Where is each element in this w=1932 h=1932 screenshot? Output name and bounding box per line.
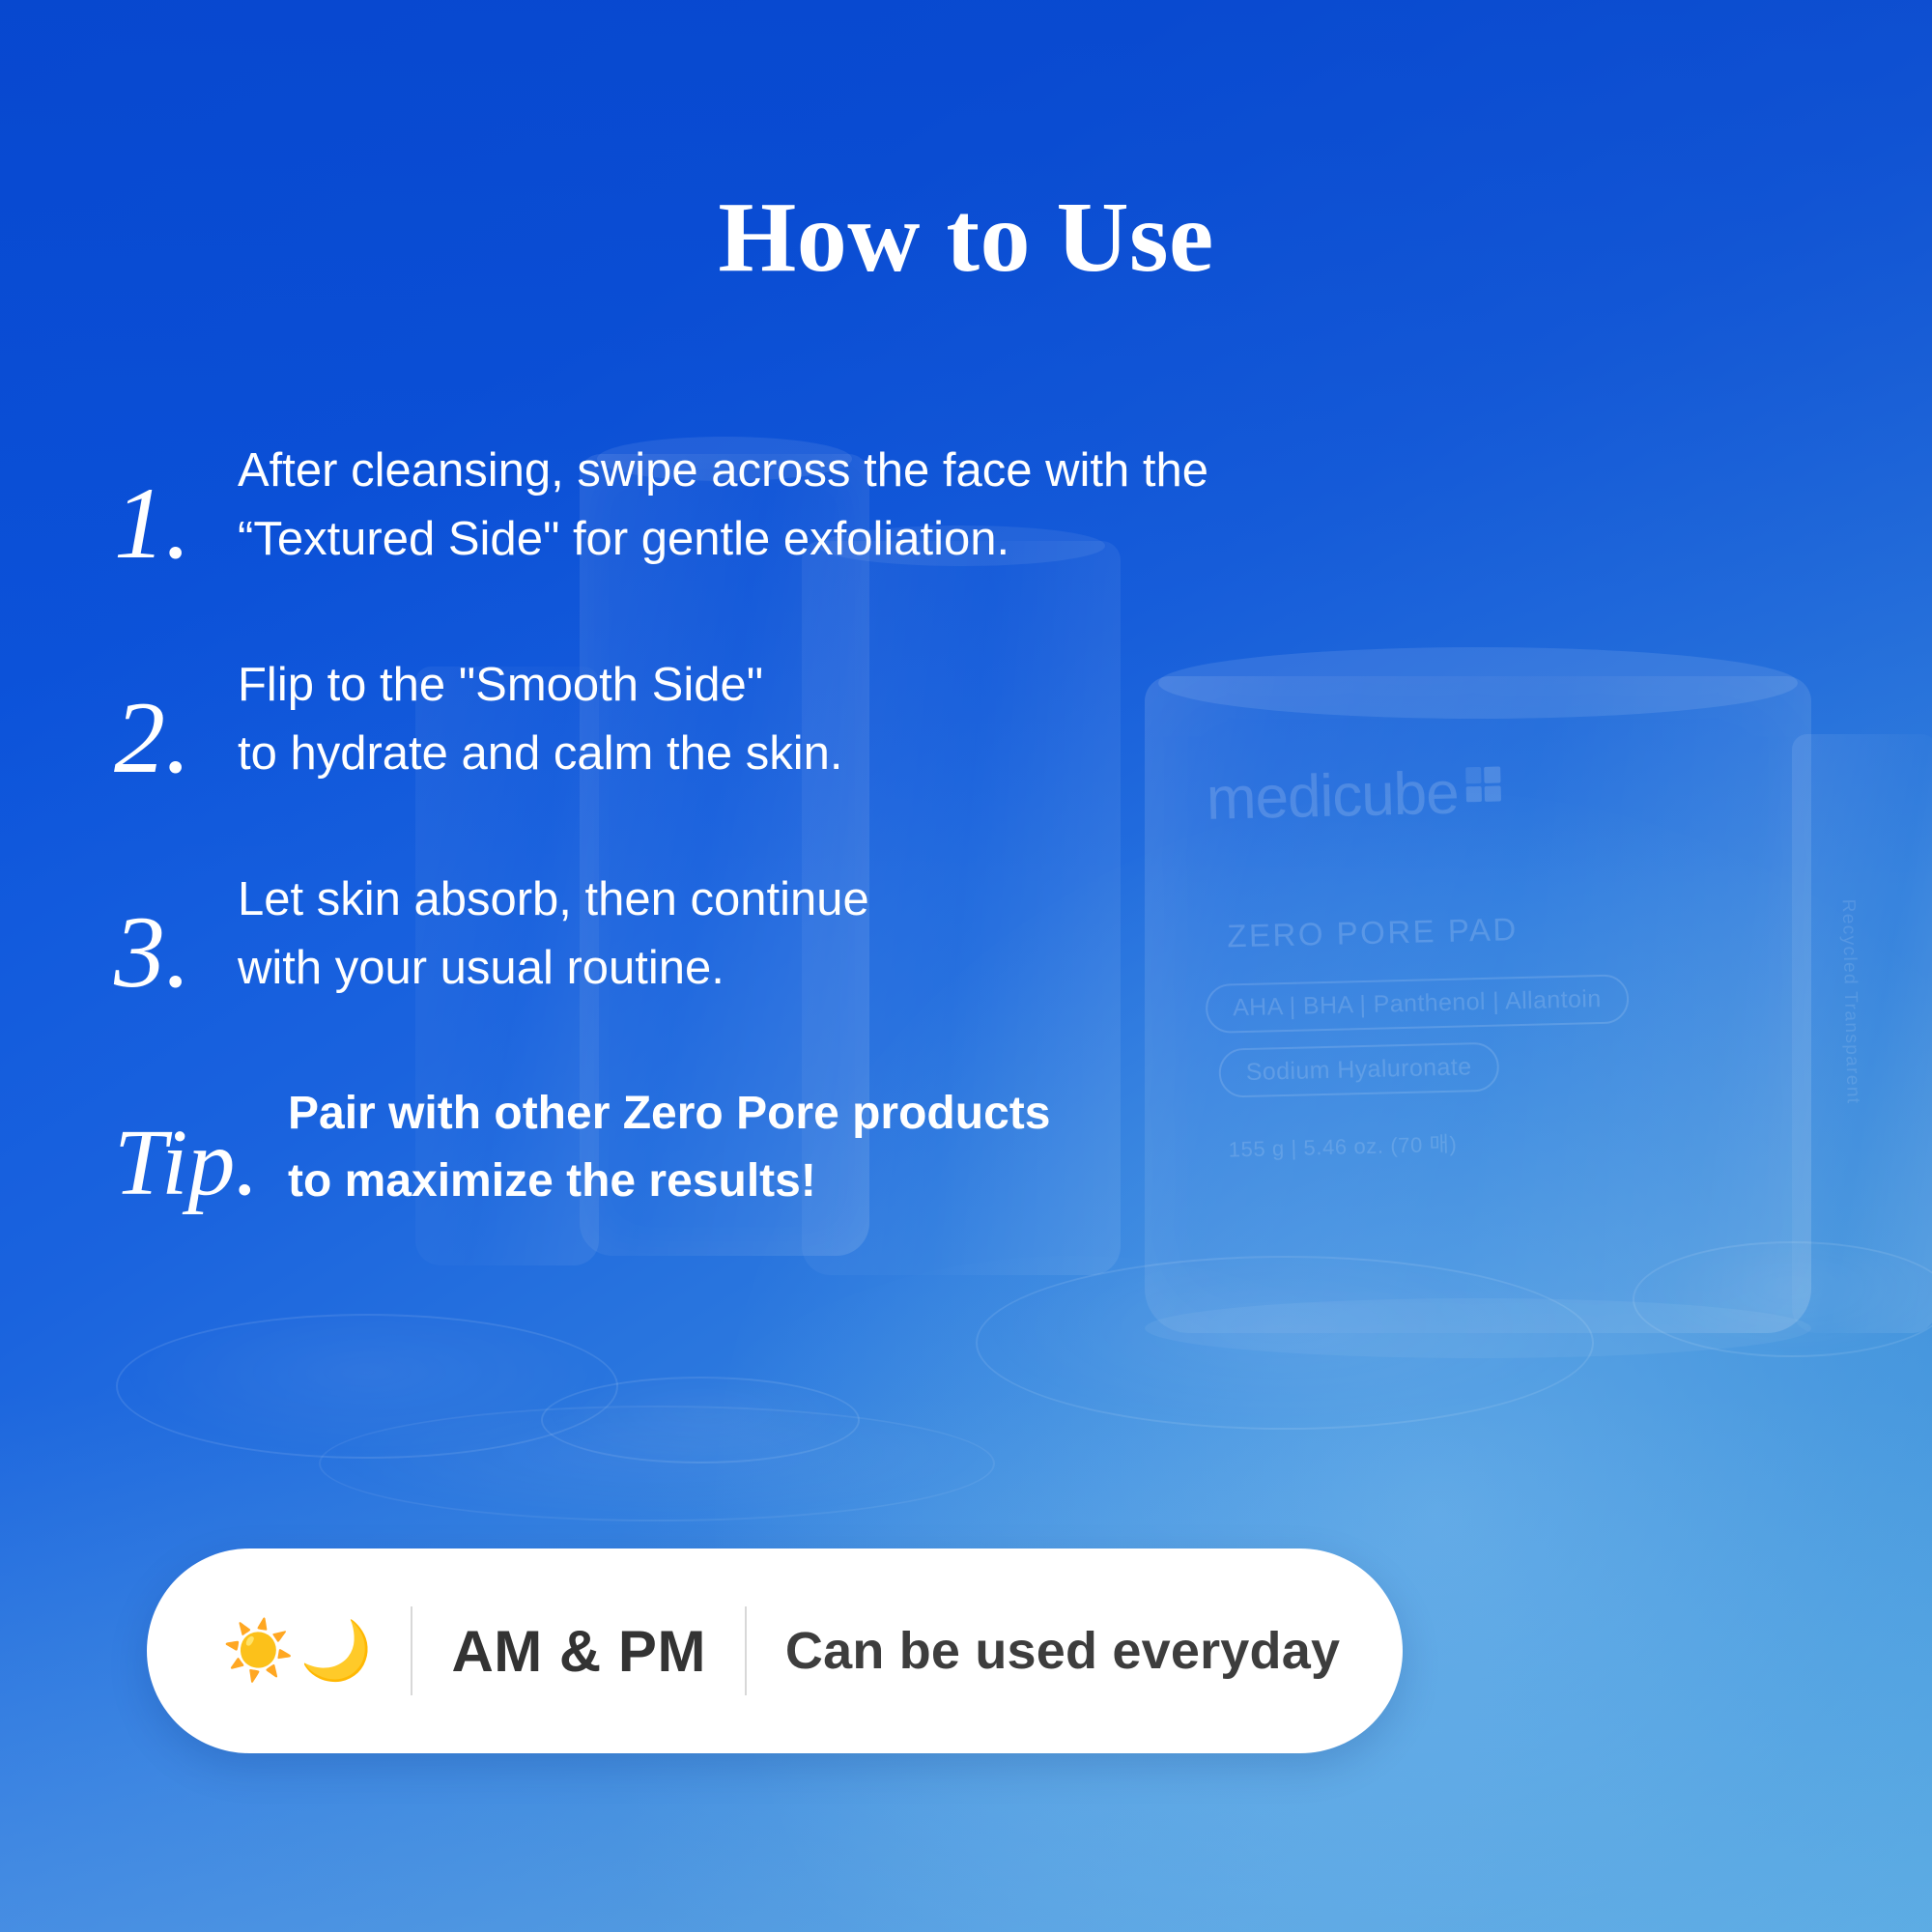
moon-icon: 🌙 xyxy=(300,1622,373,1680)
step-text: Let skin absorb, then continue with your… xyxy=(238,866,869,1005)
tip-text: Pair with other Zero Pore products to ma… xyxy=(288,1080,1050,1216)
step-text-line: “Textured Side" for gentle exfoliation. xyxy=(238,505,1208,574)
step-text-line: Flip to the "Smooth Side" xyxy=(238,651,842,720)
step-number: 3. xyxy=(114,905,238,1006)
steps-list: 1. After cleansing, swipe across the fac… xyxy=(114,437,1370,1216)
step-text: Flip to the "Smooth Side" to hydrate and… xyxy=(238,651,842,790)
step-text: After cleansing, swipe across the face w… xyxy=(238,437,1208,576)
usage-badge: ☀️ 🌙 AM & PM Can be used everyday xyxy=(147,1548,1403,1753)
badge-divider xyxy=(745,1606,747,1695)
tip-text-line: Pair with other Zero Pore products xyxy=(288,1080,1050,1148)
badge-icon-group: ☀️ 🌙 xyxy=(222,1622,372,1680)
tip-item: Tip. Pair with other Zero Pore products … xyxy=(114,1080,1370,1216)
step-text-line: After cleansing, swipe across the face w… xyxy=(238,437,1208,505)
step-item: 3. Let skin absorb, then continue with y… xyxy=(114,866,1370,1005)
step-item: 1. After cleansing, swipe across the fac… xyxy=(114,437,1370,576)
badge-frequency-label: Can be used everyday xyxy=(785,1621,1340,1681)
step-item: 2. Flip to the "Smooth Side" to hydrate … xyxy=(114,651,1370,790)
badge-divider xyxy=(411,1606,412,1695)
step-number: 2. xyxy=(114,691,238,791)
badge-time-label: AM & PM xyxy=(451,1618,705,1685)
step-text-line: to hydrate and calm the skin. xyxy=(238,720,842,788)
step-text-line: Let skin absorb, then continue xyxy=(238,866,869,934)
step-text-line: with your usual routine. xyxy=(238,934,869,1003)
step-number: 1. xyxy=(114,476,238,577)
tip-text-line: to maximize the results! xyxy=(288,1148,1050,1215)
sun-icon: ☀️ xyxy=(222,1622,295,1680)
content-layer: How to Use 1. After cleansing, swipe acr… xyxy=(0,0,1932,1932)
tip-marker: Tip. xyxy=(114,1119,288,1216)
page-title: How to Use xyxy=(0,180,1932,295)
